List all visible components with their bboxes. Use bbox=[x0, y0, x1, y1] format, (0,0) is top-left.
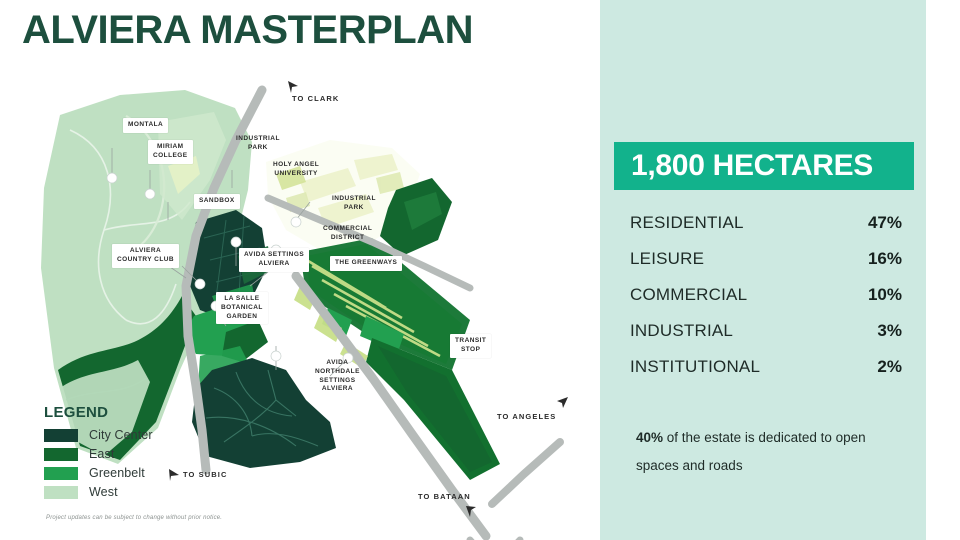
disclaimer-text: Project updates can be subject to change… bbox=[46, 515, 222, 521]
direction-label-to-clark: TO CLARK bbox=[292, 94, 339, 103]
legend-swatch-east bbox=[44, 448, 78, 461]
arrow-to-subic-icon bbox=[167, 468, 181, 482]
stat-row-leisure: LEISURE 16% bbox=[630, 249, 902, 285]
map-label-avida-settings-alviera: AVIDA SETTINGS ALVIERA bbox=[239, 248, 309, 272]
stat-label-institutional: INSTITUTIONAL bbox=[630, 357, 760, 377]
map-label-industrial-park-north: INDUSTRIAL PARK bbox=[231, 132, 285, 156]
map-label-avida-northdale-settings-alviera: AVIDA NORTHDALE SETTINGS ALVIERA bbox=[310, 356, 365, 397]
stat-value-industrial: 3% bbox=[877, 321, 902, 341]
direction-label-to-bataan: TO BATAAN bbox=[418, 492, 471, 501]
map-label-transit-stop: TRANSIT STOP bbox=[450, 334, 491, 358]
map-label-commercial-district: COMMERCIAL DISTRICT bbox=[318, 222, 377, 246]
map-label-miriam-college: MIRIAM COLLEGE bbox=[148, 140, 193, 164]
direction-label-to-angeles: TO ANGELES bbox=[497, 412, 556, 421]
hectares-banner: 1,800 HECTARES bbox=[614, 142, 914, 190]
stat-value-residential: 47% bbox=[868, 213, 902, 233]
legend-swatch-greenbelt bbox=[44, 467, 78, 480]
stat-value-institutional: 2% bbox=[877, 357, 902, 377]
map-label-montala: MONTALA bbox=[123, 118, 168, 133]
stat-row-institutional: INSTITUTIONAL 2% bbox=[630, 357, 902, 393]
hectares-headline: 1,800 HECTARES bbox=[631, 149, 873, 183]
page-title: ALVIERA MASTERPLAN bbox=[22, 8, 473, 53]
arrow-to-angeles-icon bbox=[556, 396, 570, 410]
stats-list: RESIDENTIAL 47% LEISURE 16% COMMERCIAL 1… bbox=[630, 213, 902, 393]
map-label-industrial-park-east: INDUSTRIAL PARK bbox=[327, 192, 381, 216]
legend-item-greenbelt: Greenbelt bbox=[44, 466, 153, 480]
map-label-la-salle-botanical-garden: LA SALLE BOTANICAL GARDEN bbox=[216, 292, 268, 324]
legend: LEGEND City Center East Greenbelt West bbox=[44, 404, 153, 504]
stat-label-industrial: INDUSTRIAL bbox=[630, 321, 733, 341]
panel-right-margin bbox=[926, 0, 960, 540]
legend-title: LEGEND bbox=[44, 404, 153, 421]
open-space-note-figure: 40% bbox=[636, 430, 663, 445]
legend-item-east: East bbox=[44, 447, 153, 461]
stat-label-leisure: LEISURE bbox=[630, 249, 704, 269]
open-space-note-text: of the estate is dedicated to open space… bbox=[636, 430, 866, 473]
legend-item-west: West bbox=[44, 485, 153, 499]
map-label-sandbox: SANDBOX bbox=[194, 194, 240, 209]
legend-label-greenbelt: Greenbelt bbox=[89, 466, 145, 480]
stat-value-leisure: 16% bbox=[868, 249, 902, 269]
slide-canvas: ALVIERA MASTERPLAN bbox=[0, 0, 960, 540]
legend-label-east: East bbox=[89, 447, 114, 461]
legend-label-west: West bbox=[89, 485, 118, 499]
map-label-alviera-country-club: ALVIERA COUNTRY CLUB bbox=[112, 244, 179, 268]
map-label-holy-angel-university: HOLY ANGEL UNIVERSITY bbox=[268, 158, 324, 182]
stat-label-residential: RESIDENTIAL bbox=[630, 213, 744, 233]
stat-row-commercial: COMMERCIAL 10% bbox=[630, 285, 902, 321]
arrow-to-bataan-icon bbox=[464, 504, 478, 518]
legend-swatch-city-center bbox=[44, 429, 78, 442]
legend-swatch-west bbox=[44, 486, 78, 499]
arrow-to-clark-icon bbox=[286, 80, 300, 94]
stat-row-industrial: INDUSTRIAL 3% bbox=[630, 321, 902, 357]
stat-value-commercial: 10% bbox=[868, 285, 902, 305]
stat-label-commercial: COMMERCIAL bbox=[630, 285, 747, 305]
open-space-note: 40% of the estate is dedicated to open s… bbox=[636, 424, 898, 479]
legend-label-city-center: City Center bbox=[89, 428, 153, 442]
map-label-the-greenways: THE GREENWAYS bbox=[330, 256, 402, 271]
stat-row-residential: RESIDENTIAL 47% bbox=[630, 213, 902, 249]
direction-label-to-subic: TO SUBIC bbox=[183, 470, 228, 479]
legend-item-city-center: City Center bbox=[44, 428, 153, 442]
